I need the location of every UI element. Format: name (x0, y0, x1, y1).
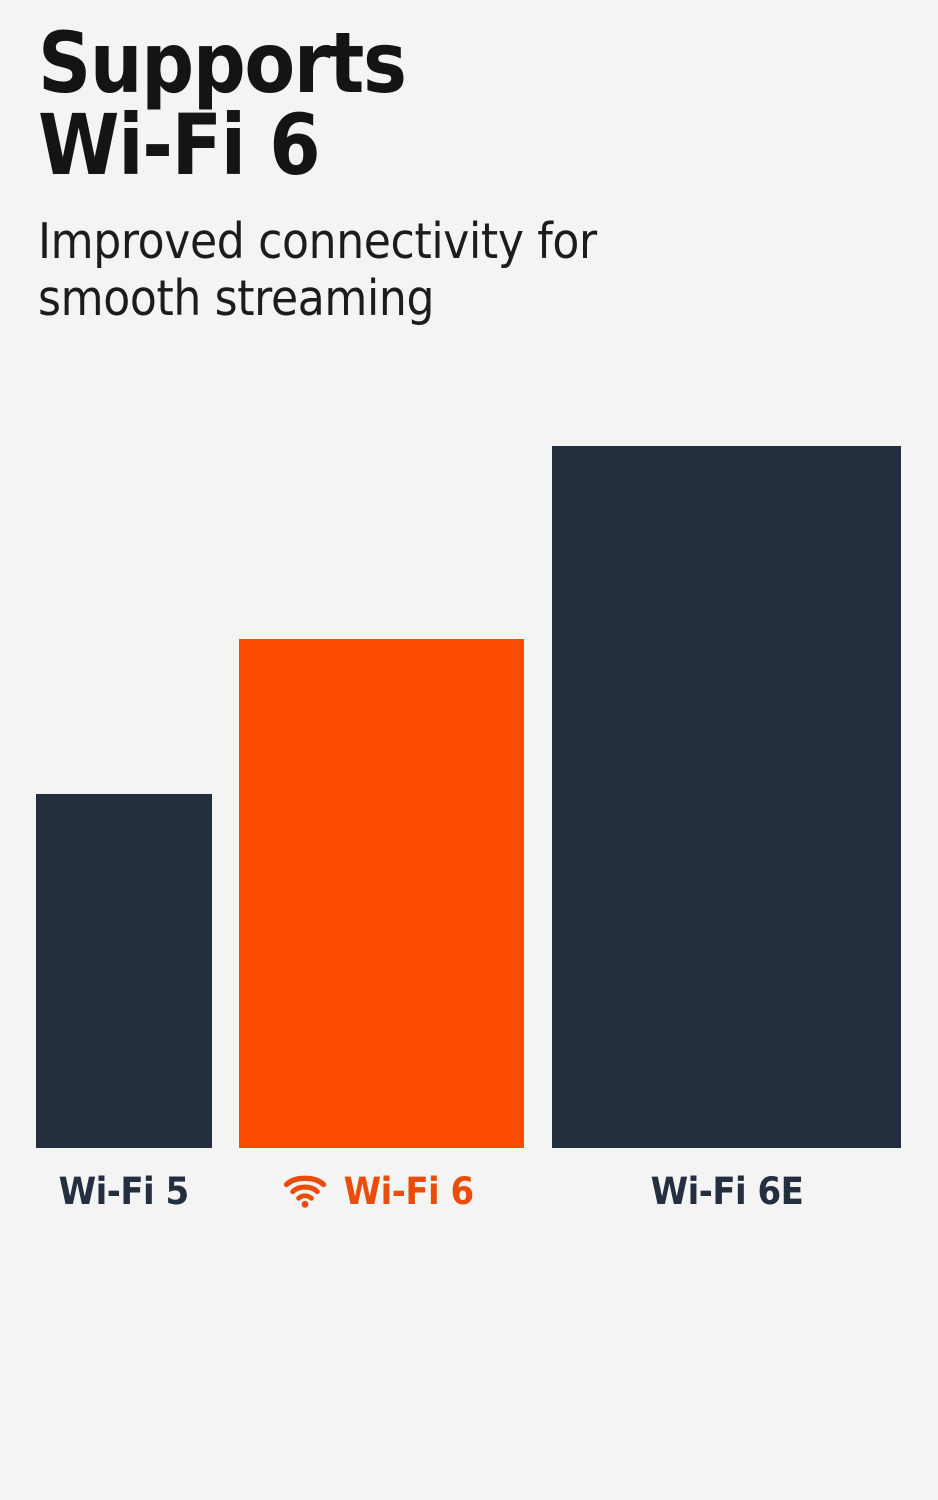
wifi-generation-bar-chart: Wi-Fi 5 Wi-Fi 6 Wi-Fi 6E (0, 0, 938, 1500)
bar-label-wifi-5-text: Wi-Fi 5 (59, 1170, 189, 1213)
bar-wifi-6e (552, 446, 901, 1148)
bar-wifi-5 (36, 794, 212, 1148)
wifi-icon (283, 1174, 327, 1208)
bar-wifi-6 (239, 639, 524, 1148)
bar-label-wifi-6e-text: Wi-Fi 6E (650, 1170, 803, 1213)
wifi6-feature-card: Supports Wi-Fi 6 Improved connectivity f… (0, 0, 938, 1500)
bar-label-wifi-6: Wi-Fi 6 (239, 1163, 524, 1219)
bar-label-wifi-6e: Wi-Fi 6E (552, 1163, 901, 1219)
bar-label-wifi-5: Wi-Fi 5 (36, 1163, 212, 1219)
bar-label-wifi-6-text: Wi-Fi 6 (344, 1170, 474, 1213)
